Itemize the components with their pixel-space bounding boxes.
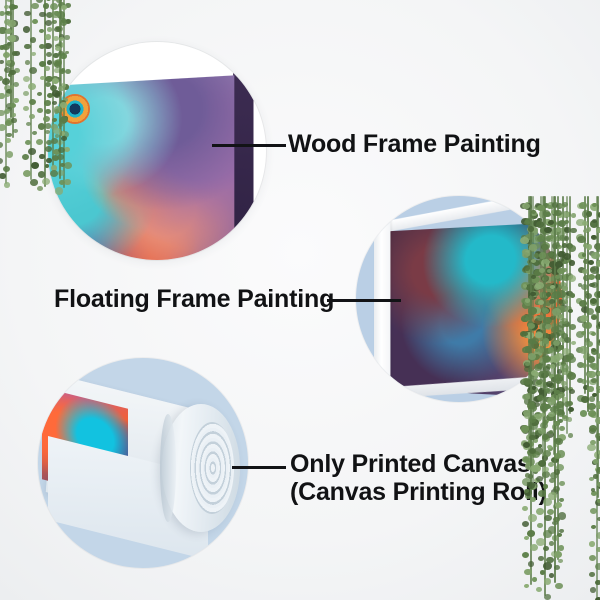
vine-leaf bbox=[528, 561, 535, 567]
vine-leaf bbox=[589, 572, 594, 577]
vine-leaf bbox=[522, 506, 528, 511]
vine-leaf bbox=[31, 162, 39, 169]
vine-leaf bbox=[39, 29, 44, 34]
label-canvas-roll-line2: (Canvas Printing Roll) bbox=[290, 478, 560, 506]
vine-leaf bbox=[530, 432, 537, 438]
vine-leaf bbox=[568, 407, 575, 413]
vine-leaf bbox=[538, 428, 546, 435]
vine-leaf bbox=[524, 569, 532, 576]
vine-leaf bbox=[564, 236, 569, 241]
vine-leaf bbox=[23, 26, 31, 33]
vine-leaf bbox=[578, 283, 583, 287]
vine-leaf bbox=[540, 406, 548, 413]
vine-leaf bbox=[591, 363, 598, 369]
vine-leaf bbox=[577, 203, 584, 209]
vine-leaf bbox=[549, 541, 554, 546]
vine-leaf bbox=[527, 426, 532, 430]
vine-leaf bbox=[547, 445, 552, 449]
vine-leaf bbox=[5, 138, 11, 143]
vine-leaf bbox=[591, 349, 598, 355]
vine-leaf bbox=[28, 83, 36, 90]
vine-leaf bbox=[559, 426, 565, 431]
vine-leaf bbox=[581, 363, 587, 369]
vine-leaf bbox=[595, 563, 600, 570]
vine-leaf bbox=[566, 353, 574, 359]
vine-leaf bbox=[11, 35, 19, 42]
vine-leaf bbox=[567, 417, 572, 422]
vine-leaf bbox=[595, 371, 600, 376]
vine-strand bbox=[597, 196, 599, 498]
vine-leaf bbox=[546, 431, 555, 439]
vine-leaf bbox=[14, 51, 19, 56]
vine-leaf bbox=[540, 403, 548, 410]
wood-frame-painting-photo bbox=[48, 42, 266, 260]
vine-leaf bbox=[570, 228, 576, 233]
vine-leaf bbox=[4, 109, 10, 114]
vine-leaf bbox=[582, 221, 588, 226]
vine-leaf bbox=[591, 348, 596, 352]
vine-leaf bbox=[0, 45, 5, 50]
vine-leaf bbox=[555, 405, 560, 409]
vine-leaf bbox=[586, 227, 592, 232]
vine-leaf bbox=[591, 491, 597, 497]
vine-leaf bbox=[564, 220, 569, 224]
vine-leaf bbox=[584, 322, 593, 329]
vine-leaf bbox=[582, 253, 587, 257]
vine-leaf bbox=[535, 428, 544, 435]
vine-leaf bbox=[534, 435, 540, 440]
vine-leaf bbox=[577, 395, 585, 402]
vine-leaf bbox=[568, 309, 573, 313]
vine-leaf bbox=[55, 26, 60, 30]
vine-leaf bbox=[577, 362, 584, 368]
vine-leaf bbox=[552, 535, 558, 540]
vine-strand bbox=[569, 196, 571, 414]
vine-leaf bbox=[545, 404, 551, 409]
vine-leaf bbox=[594, 451, 600, 459]
vine-leaf bbox=[523, 442, 530, 448]
vine-leaf bbox=[4, 5, 9, 9]
vine-leaf bbox=[563, 253, 572, 260]
vine-leaf bbox=[583, 259, 589, 264]
vine-leaf bbox=[581, 396, 589, 403]
vine-leaf bbox=[563, 386, 569, 391]
vine-leaf bbox=[533, 414, 542, 422]
vine-leaf bbox=[590, 266, 599, 274]
vine-leaf bbox=[28, 148, 36, 155]
vine-leaf bbox=[4, 67, 11, 73]
vine-leaf bbox=[7, 42, 12, 46]
vine-leaf bbox=[8, 73, 13, 77]
vine-leaf bbox=[529, 435, 535, 440]
vine-leaf bbox=[13, 98, 19, 103]
vine-leaf bbox=[32, 19, 38, 24]
vine-leaf bbox=[580, 315, 588, 322]
vine-leaf bbox=[566, 243, 573, 249]
vine-leaf bbox=[590, 267, 596, 272]
vine-leaf bbox=[592, 460, 597, 465]
vine-leaf bbox=[548, 412, 555, 418]
vine-leaf bbox=[61, 18, 66, 22]
vine-leaf bbox=[59, 37, 64, 41]
vine-leaf bbox=[521, 440, 528, 446]
vine-strand bbox=[10, 0, 12, 118]
vine-leaf bbox=[5, 120, 12, 126]
vine-leaf bbox=[568, 387, 574, 392]
vine-leaf bbox=[568, 245, 576, 252]
vine-leaf bbox=[587, 356, 594, 362]
vine-leaf bbox=[557, 410, 565, 417]
vine-leaf bbox=[13, 129, 18, 134]
vine-leaf bbox=[591, 282, 598, 288]
vine-leaf bbox=[0, 93, 5, 98]
vine-leaf bbox=[595, 467, 600, 473]
vine-leaf bbox=[22, 154, 29, 160]
vine-leaf bbox=[557, 533, 562, 538]
vine-leaf bbox=[25, 60, 30, 65]
vine-leaf bbox=[60, 20, 67, 26]
vine-leaf bbox=[578, 252, 586, 259]
vine-leaf bbox=[37, 92, 42, 96]
vine-leaf bbox=[583, 275, 590, 281]
vine-leaf bbox=[546, 557, 554, 564]
vine-leaf bbox=[544, 404, 550, 409]
vine-leaf bbox=[589, 251, 596, 257]
vine-leaf bbox=[6, 60, 14, 67]
vine-leaf bbox=[29, 67, 37, 74]
vine-leaf bbox=[595, 306, 600, 313]
vine-leaf bbox=[23, 91, 29, 96]
vine-leaf bbox=[582, 210, 591, 218]
vine-leaf bbox=[520, 425, 527, 431]
vine-leaf bbox=[546, 414, 554, 421]
vine-leaf bbox=[47, 27, 53, 32]
vine-leaf bbox=[0, 158, 3, 164]
floating-frame bbox=[374, 213, 562, 402]
vine-leaf bbox=[566, 371, 573, 377]
vine-leaf bbox=[576, 219, 584, 226]
vine-leaf bbox=[25, 140, 31, 145]
vine-leaf bbox=[536, 508, 544, 515]
vine-leaf bbox=[582, 322, 588, 327]
vine-leaf bbox=[585, 291, 590, 295]
vine-leaf bbox=[590, 298, 597, 304]
vine-leaf bbox=[23, 106, 29, 111]
vine-leaf bbox=[551, 551, 558, 557]
vine-leaf bbox=[595, 499, 600, 506]
vine-leaf bbox=[30, 179, 38, 186]
vine-leaf bbox=[538, 444, 543, 448]
vine-leaf bbox=[596, 245, 600, 252]
vine-leaf bbox=[54, 27, 60, 33]
vine-leaf bbox=[530, 544, 538, 551]
vine-leaf bbox=[64, 35, 69, 40]
vine-leaf bbox=[23, 76, 30, 82]
vine-leaf bbox=[26, 122, 31, 126]
vine-leaf bbox=[583, 229, 588, 234]
vine-strand bbox=[30, 0, 32, 180]
vine-leaf bbox=[10, 103, 16, 108]
vine-leaf bbox=[564, 401, 570, 406]
vine-leaf bbox=[544, 594, 551, 600]
vine-leaf bbox=[46, 12, 54, 19]
frame-left-rail bbox=[374, 219, 390, 398]
vine-leaf bbox=[5, 93, 10, 97]
vine-leaf bbox=[579, 300, 587, 307]
label-wood-frame-painting: Wood Frame Painting bbox=[288, 130, 541, 158]
vine-leaf bbox=[522, 521, 529, 527]
vine-leaf bbox=[596, 401, 600, 408]
vine-leaf bbox=[540, 570, 545, 574]
vine-leaf bbox=[524, 413, 532, 420]
vine-leaf bbox=[583, 353, 591, 360]
vine-leaf bbox=[4, 182, 10, 188]
vine-leaf bbox=[37, 108, 42, 113]
vine-leaf bbox=[36, 139, 43, 145]
vine-leaf bbox=[555, 438, 563, 445]
vine-leaf bbox=[558, 434, 566, 441]
vine-leaf bbox=[554, 551, 562, 558]
vine-leaf bbox=[583, 385, 589, 390]
vine-leaf bbox=[39, 44, 45, 49]
vine-leaf bbox=[527, 530, 535, 537]
vine-leaf bbox=[6, 60, 11, 65]
vine-leaf bbox=[597, 499, 600, 503]
vine-leaf bbox=[524, 584, 529, 588]
vine-leaf bbox=[559, 529, 564, 533]
vine-leaf bbox=[544, 437, 549, 441]
vine-leaf bbox=[566, 273, 573, 279]
vine-leaf bbox=[596, 532, 600, 539]
vine-leaf bbox=[569, 389, 575, 394]
vine-leaf bbox=[3, 166, 10, 172]
vine-leaf bbox=[65, 19, 71, 24]
vine-strand bbox=[584, 196, 586, 394]
vine-leaf bbox=[522, 410, 530, 417]
vine-leaf bbox=[579, 202, 586, 208]
vine-leaf bbox=[590, 299, 598, 306]
vine-leaf bbox=[3, 52, 10, 58]
vine-leaf bbox=[12, 51, 17, 56]
vine-leaf bbox=[527, 402, 536, 409]
vine-leaf bbox=[6, 151, 13, 157]
vine-leaf bbox=[2, 44, 10, 51]
vine-leaf bbox=[581, 284, 588, 290]
vine-leaf bbox=[591, 235, 597, 240]
vine-leaf bbox=[587, 444, 595, 451]
vine-leaf bbox=[46, 0, 52, 1]
vine-leaf bbox=[552, 521, 558, 526]
vine-leaf bbox=[522, 552, 529, 558]
vine-leaf bbox=[7, 20, 15, 27]
vine-leaf bbox=[591, 252, 599, 259]
vine-leaf bbox=[56, 26, 63, 32]
vine-leaf bbox=[571, 341, 576, 345]
vine-leaf bbox=[542, 435, 550, 442]
vine-leaf bbox=[596, 547, 600, 552]
vine-leaf bbox=[576, 298, 582, 303]
vine-leaf bbox=[591, 314, 597, 319]
vine-leaf bbox=[586, 211, 593, 217]
vine-leaf bbox=[590, 203, 599, 211]
vine-leaf bbox=[569, 324, 576, 330]
vine-leaf bbox=[592, 203, 597, 207]
vine-leaf bbox=[6, 133, 11, 138]
vine-leaf bbox=[553, 517, 560, 523]
vine-leaf bbox=[9, 4, 16, 10]
vine-leaf bbox=[38, 123, 45, 129]
vine-leaf bbox=[596, 324, 600, 330]
vine-leaf bbox=[589, 428, 596, 434]
vine-leaf bbox=[23, 170, 31, 177]
vine-leaf bbox=[587, 371, 596, 379]
vine-leaf bbox=[589, 396, 595, 402]
vine-leaf bbox=[567, 401, 573, 406]
vine-leaf bbox=[59, 34, 64, 39]
vine-leaf bbox=[554, 438, 561, 444]
vine-leaf bbox=[596, 212, 600, 217]
vine-leaf bbox=[564, 227, 572, 234]
vine-leaf bbox=[585, 338, 591, 343]
vine-strand bbox=[587, 196, 589, 412]
vine-leaf bbox=[558, 419, 563, 423]
vine-leaf bbox=[540, 422, 548, 429]
vine-leaf bbox=[29, 114, 35, 119]
vine-leaf bbox=[539, 413, 545, 418]
vine-leaf bbox=[38, 171, 46, 178]
vine-leaf bbox=[577, 236, 586, 244]
vine-leaf bbox=[582, 269, 588, 274]
leader-line-wood-frame bbox=[212, 144, 286, 147]
vine-leaf bbox=[590, 508, 597, 514]
vine-leaf bbox=[576, 234, 584, 241]
vine-leaf bbox=[566, 291, 572, 296]
vine-leaf bbox=[527, 402, 536, 410]
vine-leaf bbox=[6, 103, 13, 109]
leader-line-floating-frame bbox=[327, 299, 401, 302]
vine-leaf bbox=[589, 331, 595, 336]
vine-leaf bbox=[57, 11, 65, 18]
vine-leaf bbox=[589, 477, 594, 481]
vine-leaf bbox=[54, 11, 60, 16]
vine-leaf bbox=[596, 386, 600, 391]
leader-line-canvas-roll bbox=[232, 466, 286, 469]
vine-leaf bbox=[562, 286, 569, 292]
vine-leaf bbox=[53, 36, 59, 41]
vine-leaf bbox=[530, 415, 536, 420]
vine-leaf bbox=[594, 291, 600, 298]
vine-leaf bbox=[9, 70, 15, 75]
vine-leaf bbox=[558, 559, 563, 564]
vine-leaf bbox=[593, 459, 598, 464]
vine-leaf bbox=[528, 409, 533, 413]
vine-leaf bbox=[52, 20, 58, 25]
vine-leaf bbox=[568, 275, 576, 282]
vine-leaf bbox=[567, 259, 572, 263]
vine-leaf bbox=[530, 419, 539, 427]
vine-leaf bbox=[529, 416, 537, 423]
vine-leaf bbox=[587, 403, 596, 411]
vine-strand bbox=[566, 196, 568, 434]
vine-leaf bbox=[6, 0, 14, 2]
vine-leaf bbox=[590, 220, 599, 227]
vine-leaf bbox=[0, 142, 3, 148]
vine-leaf bbox=[547, 509, 554, 515]
vine-leaf bbox=[577, 316, 586, 323]
vine-leaf bbox=[536, 538, 545, 546]
vine-leaf bbox=[565, 306, 572, 312]
vine-leaf bbox=[538, 556, 544, 561]
vine-leaf bbox=[528, 514, 537, 522]
vine-leaf bbox=[6, 118, 13, 124]
vine-leaf bbox=[4, 85, 11, 91]
vine-leaf bbox=[596, 260, 600, 266]
vine-leaf bbox=[8, 35, 16, 42]
vine-leaf bbox=[5, 29, 11, 34]
vine-leaf bbox=[588, 274, 595, 280]
vine-leaf bbox=[56, 0, 63, 3]
vine-leaf bbox=[590, 412, 598, 419]
vine-leaf bbox=[596, 260, 600, 267]
vine-leaf bbox=[522, 428, 529, 434]
vine-leaf bbox=[10, 85, 15, 89]
vine-leaf bbox=[36, 0, 43, 3]
vine-leaf bbox=[586, 371, 592, 376]
vine-leaf bbox=[596, 228, 600, 233]
label-canvas-printing-roll: Only Printed Canvas (Canvas Printing Rol… bbox=[290, 450, 560, 506]
canvas-roll-artwork bbox=[38, 358, 248, 568]
vine-strand bbox=[12, 0, 14, 138]
vine-leaf bbox=[523, 410, 530, 416]
vine-leaf bbox=[12, 5, 17, 10]
infographic-canvas: Wood Frame Painting Floating Frame Paint… bbox=[0, 0, 600, 600]
vine-leaf bbox=[31, 3, 38, 9]
vine-leaf bbox=[556, 401, 564, 408]
vine-leaf bbox=[7, 107, 12, 111]
vine-leaf bbox=[543, 530, 552, 537]
vine-leaf bbox=[6, 11, 12, 16]
vine-leaf bbox=[545, 419, 550, 423]
vine-leaf bbox=[589, 425, 597, 432]
vine-leaf bbox=[61, 5, 67, 10]
vine-leaf bbox=[30, 37, 37, 43]
vine-leaf bbox=[562, 211, 570, 218]
vine-leaf bbox=[543, 420, 548, 425]
vine-leaf bbox=[587, 386, 593, 391]
vine-leaf bbox=[589, 363, 595, 368]
vine-leaf bbox=[586, 341, 593, 347]
vine-leaf bbox=[526, 441, 534, 448]
canvas-printing-roll-photo bbox=[38, 358, 248, 568]
vine-leaf bbox=[65, 3, 71, 8]
vine-strand bbox=[596, 196, 598, 600]
vine-leaf bbox=[533, 438, 538, 443]
vine-strand bbox=[562, 196, 564, 417]
vine-leaf bbox=[565, 212, 570, 217]
vine-leaf bbox=[563, 227, 568, 231]
vine-leaf bbox=[39, 61, 46, 67]
vine-leaf bbox=[562, 274, 570, 281]
vine-leaf bbox=[585, 293, 593, 300]
vine-leaf bbox=[591, 235, 596, 239]
vine-leaf bbox=[562, 339, 567, 343]
vine-leaf bbox=[7, 36, 12, 40]
vine-leaf bbox=[562, 202, 568, 207]
vine-leaf bbox=[37, 186, 43, 191]
vine-leaf bbox=[529, 422, 538, 430]
vine-leaf bbox=[534, 412, 542, 419]
vine-leaf bbox=[0, 76, 3, 81]
